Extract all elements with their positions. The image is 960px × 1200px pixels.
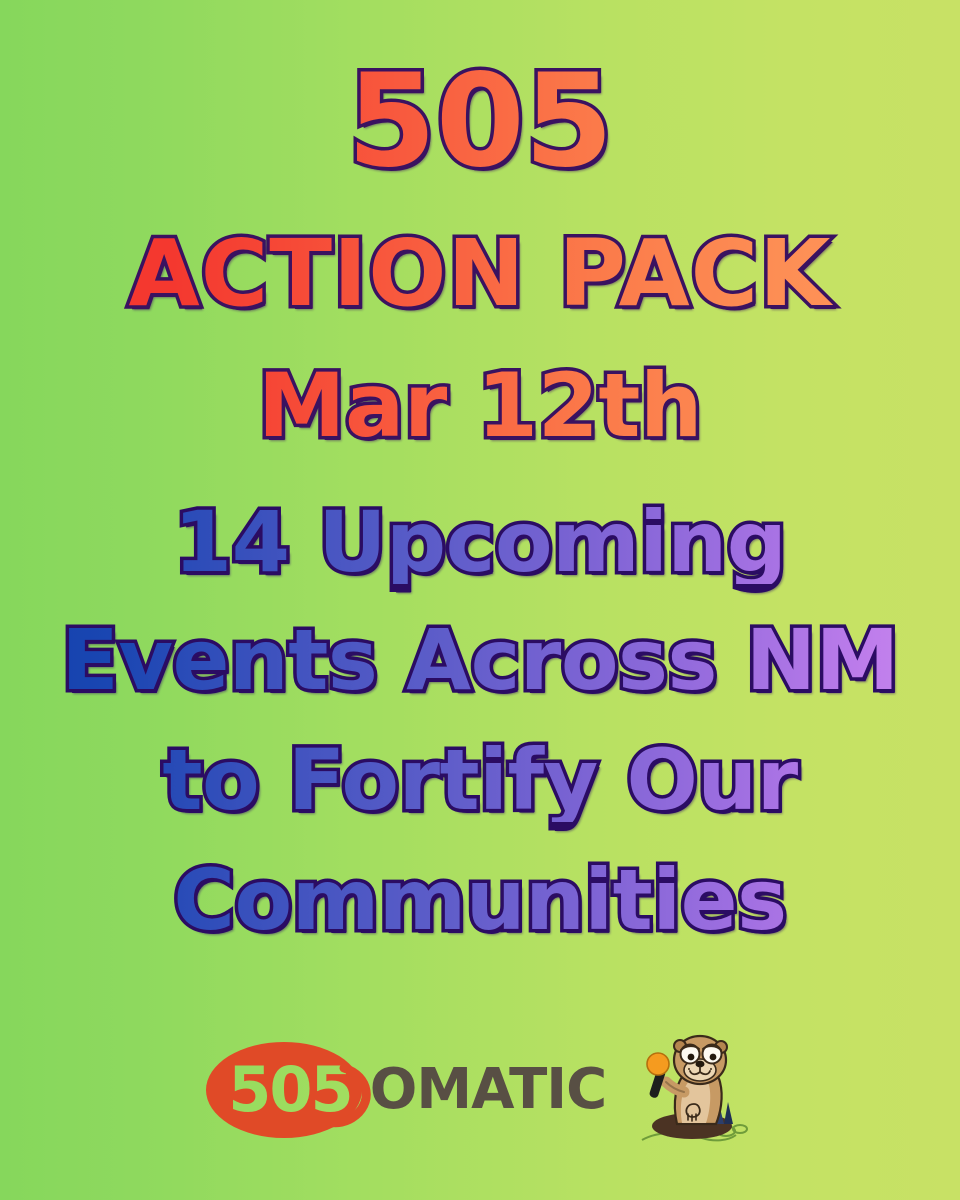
headline-date: Mar 12th Mar 12th <box>0 362 960 470</box>
brand-footer: 505 OMATIC <box>0 1015 960 1165</box>
poster-canvas: 505 505 ACTION PACK ACTION PACK Mar 12th… <box>0 0 960 1200</box>
subhead-line-3-fill: to Fortify Our <box>0 738 960 822</box>
headline-title: ACTION PACK ACTION PACK <box>0 228 960 336</box>
logo-505-badge-icon: 505 <box>206 1038 374 1142</box>
headline-title-fill: ACTION PACK <box>0 228 960 320</box>
subhead-line-1: 14 Upcoming 14 Upcoming <box>0 500 960 608</box>
subhead-line-4-fill: Communities <box>0 858 960 942</box>
prairie-dog-mascot-icon <box>632 1028 754 1158</box>
headline-area-code-fill: 505 <box>0 58 960 186</box>
subhead-line-3: to Fortify Our to Fortify Our <box>0 738 960 846</box>
subhead-line-4: Communities Communities <box>0 858 960 966</box>
headline-date-fill: Mar 12th <box>0 362 960 450</box>
brand-logo[interactable]: 505 OMATIC <box>206 1030 606 1150</box>
subhead-line-2-fill: Events Across NM <box>0 618 960 702</box>
logo-omatic-wordmark: OMATIC <box>370 1062 606 1118</box>
headline-area-code: 505 505 <box>0 58 960 193</box>
subhead-line-1-fill: 14 Upcoming <box>0 500 960 584</box>
subhead-line-2: Events Across NM Events Across NM <box>0 618 960 726</box>
